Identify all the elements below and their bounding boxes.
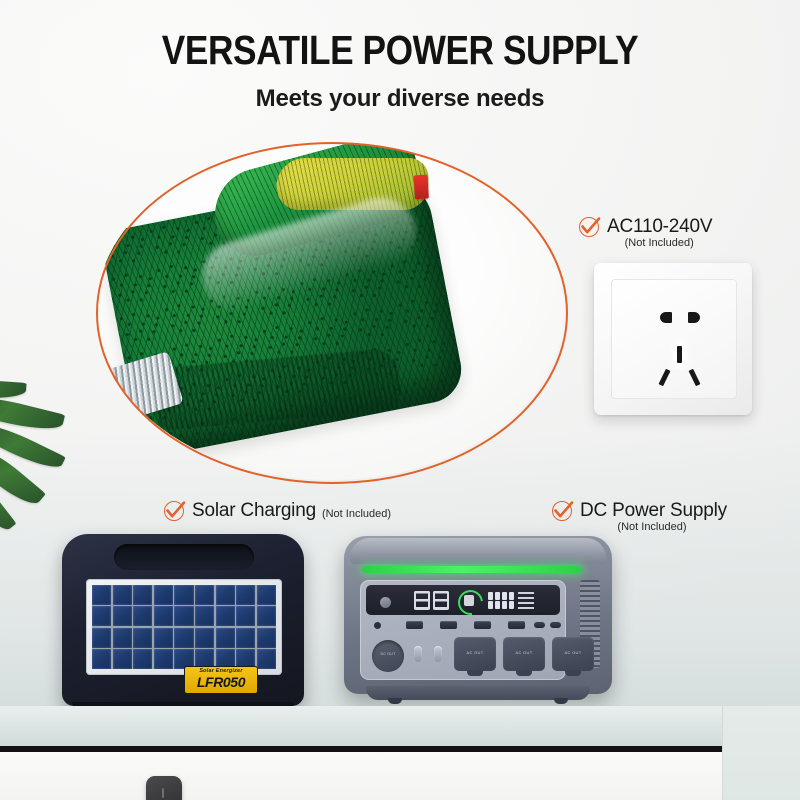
usb-port-row: [366, 620, 560, 632]
solar-cell: [154, 649, 173, 669]
solar-cell: [216, 585, 235, 605]
feature-note: (Not Included): [322, 508, 391, 520]
solar-cell: [92, 628, 111, 648]
cabinet-handle[interactable]: [146, 776, 182, 800]
gauge-center-icon: [464, 595, 474, 606]
check-circle-icon: [551, 500, 573, 522]
seven-segment-digits: [414, 591, 450, 610]
solar-cell: [257, 606, 276, 626]
solar-cell: [257, 649, 276, 669]
solar-cell: [92, 649, 111, 669]
solar-cell: [174, 628, 193, 648]
page-title: VERSATILE POWER SUPPLY: [56, 26, 744, 74]
feature-note: (Not Included): [606, 237, 712, 249]
usb-a-port[interactable]: [440, 621, 457, 629]
usb-a-port[interactable]: [474, 621, 491, 629]
indicator-dot-icon: [374, 622, 381, 629]
solar-cell: [174, 606, 193, 626]
power-station-top-cap: [350, 538, 606, 564]
solar-cell: [154, 585, 173, 605]
solar-cell: [133, 649, 152, 669]
solar-cell: [216, 628, 235, 648]
sensor-dot-icon: [380, 597, 391, 608]
solar-cell: [236, 585, 255, 605]
feature-note: (Not Included): [577, 521, 727, 533]
socket-slot-earth: [677, 346, 682, 363]
feature-label: Solar Charging: [192, 500, 316, 522]
usb-a-port[interactable]: [406, 621, 423, 629]
ac-output-port[interactable]: AC OUT: [454, 637, 496, 671]
socket-slot-top-left: [660, 312, 672, 323]
usb-c-port[interactable]: [550, 622, 561, 628]
product-marketing-image: VERSATILE POWER SUPPLY Meets your divers…: [0, 0, 800, 800]
socket-slot-bottom-right: [689, 369, 701, 386]
solar-cell: [257, 628, 276, 648]
solar-panel-handle: [114, 544, 254, 570]
solar-cell: [195, 606, 214, 626]
solar-cell: [113, 585, 132, 605]
solar-cell: [154, 628, 173, 648]
solar-cell: [133, 628, 152, 648]
solar-panel-unit: Solar Energizer LFR050: [62, 534, 304, 706]
solar-panel-label: Solar Energizer LFR050: [184, 666, 258, 694]
check-circle-icon: [163, 500, 185, 522]
usb-a-port[interactable]: [508, 621, 525, 629]
hero-ellipse-outline: [96, 142, 568, 484]
socket-slot-top-right: [688, 312, 700, 323]
status-bars-icon: [518, 592, 534, 609]
portable-power-station: DC OUT AC OUT AC OUT AC OUT: [344, 536, 612, 704]
solar-cell: [257, 585, 276, 605]
power-station-foot: [554, 698, 568, 704]
solar-cell: [236, 628, 255, 648]
display-screen: [366, 585, 560, 615]
solar-cell: [195, 628, 214, 648]
power-station-foot: [388, 698, 402, 704]
solar-cell: [113, 606, 132, 626]
feature-ac-outlet: AC110-240V (Not Included): [578, 216, 712, 249]
power-station-front-panel: DC OUT AC OUT AC OUT AC OUT: [360, 580, 566, 680]
feature-dc-power-supply: DC Power Supply (Not Included): [551, 500, 727, 533]
socket-slot-bottom-left: [659, 369, 671, 386]
battery-cells-icon: [488, 592, 514, 609]
solar-cell: [195, 585, 214, 605]
ac-output-port[interactable]: AC OUT: [503, 637, 545, 671]
feature-label: AC110-240V: [607, 216, 712, 238]
ac-port-label: AC OUT: [454, 650, 496, 655]
cabinet-front: [0, 752, 780, 800]
solar-cell: [113, 628, 132, 648]
feature-solar-charging: Solar Charging (Not Included): [163, 500, 391, 522]
counter-top: [0, 706, 780, 748]
solar-cell: [133, 606, 152, 626]
solar-cell: [113, 649, 132, 669]
page-subtitle: Meets your diverse needs: [0, 84, 800, 114]
check-circle-icon: [578, 216, 600, 238]
solar-model-text: LFR050: [185, 675, 257, 690]
digit-icon: [433, 591, 449, 610]
wall-socket: [594, 263, 752, 415]
solar-cell: [154, 606, 173, 626]
solar-cell: [174, 585, 193, 605]
solar-cell: [236, 606, 255, 626]
solar-cell: [216, 606, 235, 626]
ac-port-label: AC OUT: [552, 650, 594, 655]
solar-cell: [133, 585, 152, 605]
feature-label: DC Power Supply: [580, 500, 727, 522]
power-button[interactable]: [414, 646, 422, 662]
digit-icon: [414, 591, 430, 610]
solar-cell: [92, 606, 111, 626]
solar-panel-frame: [86, 579, 282, 675]
mode-button[interactable]: [434, 646, 442, 662]
usb-c-port[interactable]: [534, 622, 545, 628]
dc-port-label: DC OUT: [372, 652, 404, 656]
ac-output-port[interactable]: AC OUT: [552, 637, 594, 671]
solar-cell: [92, 585, 111, 605]
ac-port-label: AC OUT: [503, 650, 545, 655]
socket-inner-plate: [611, 279, 737, 399]
cabinet-side-panel: [722, 706, 800, 800]
dc-output-port[interactable]: DC OUT: [372, 640, 404, 672]
led-light-bar: [362, 566, 582, 573]
output-port-row: DC OUT AC OUT AC OUT AC OUT: [366, 636, 560, 676]
solar-cell-grid: [92, 585, 276, 669]
